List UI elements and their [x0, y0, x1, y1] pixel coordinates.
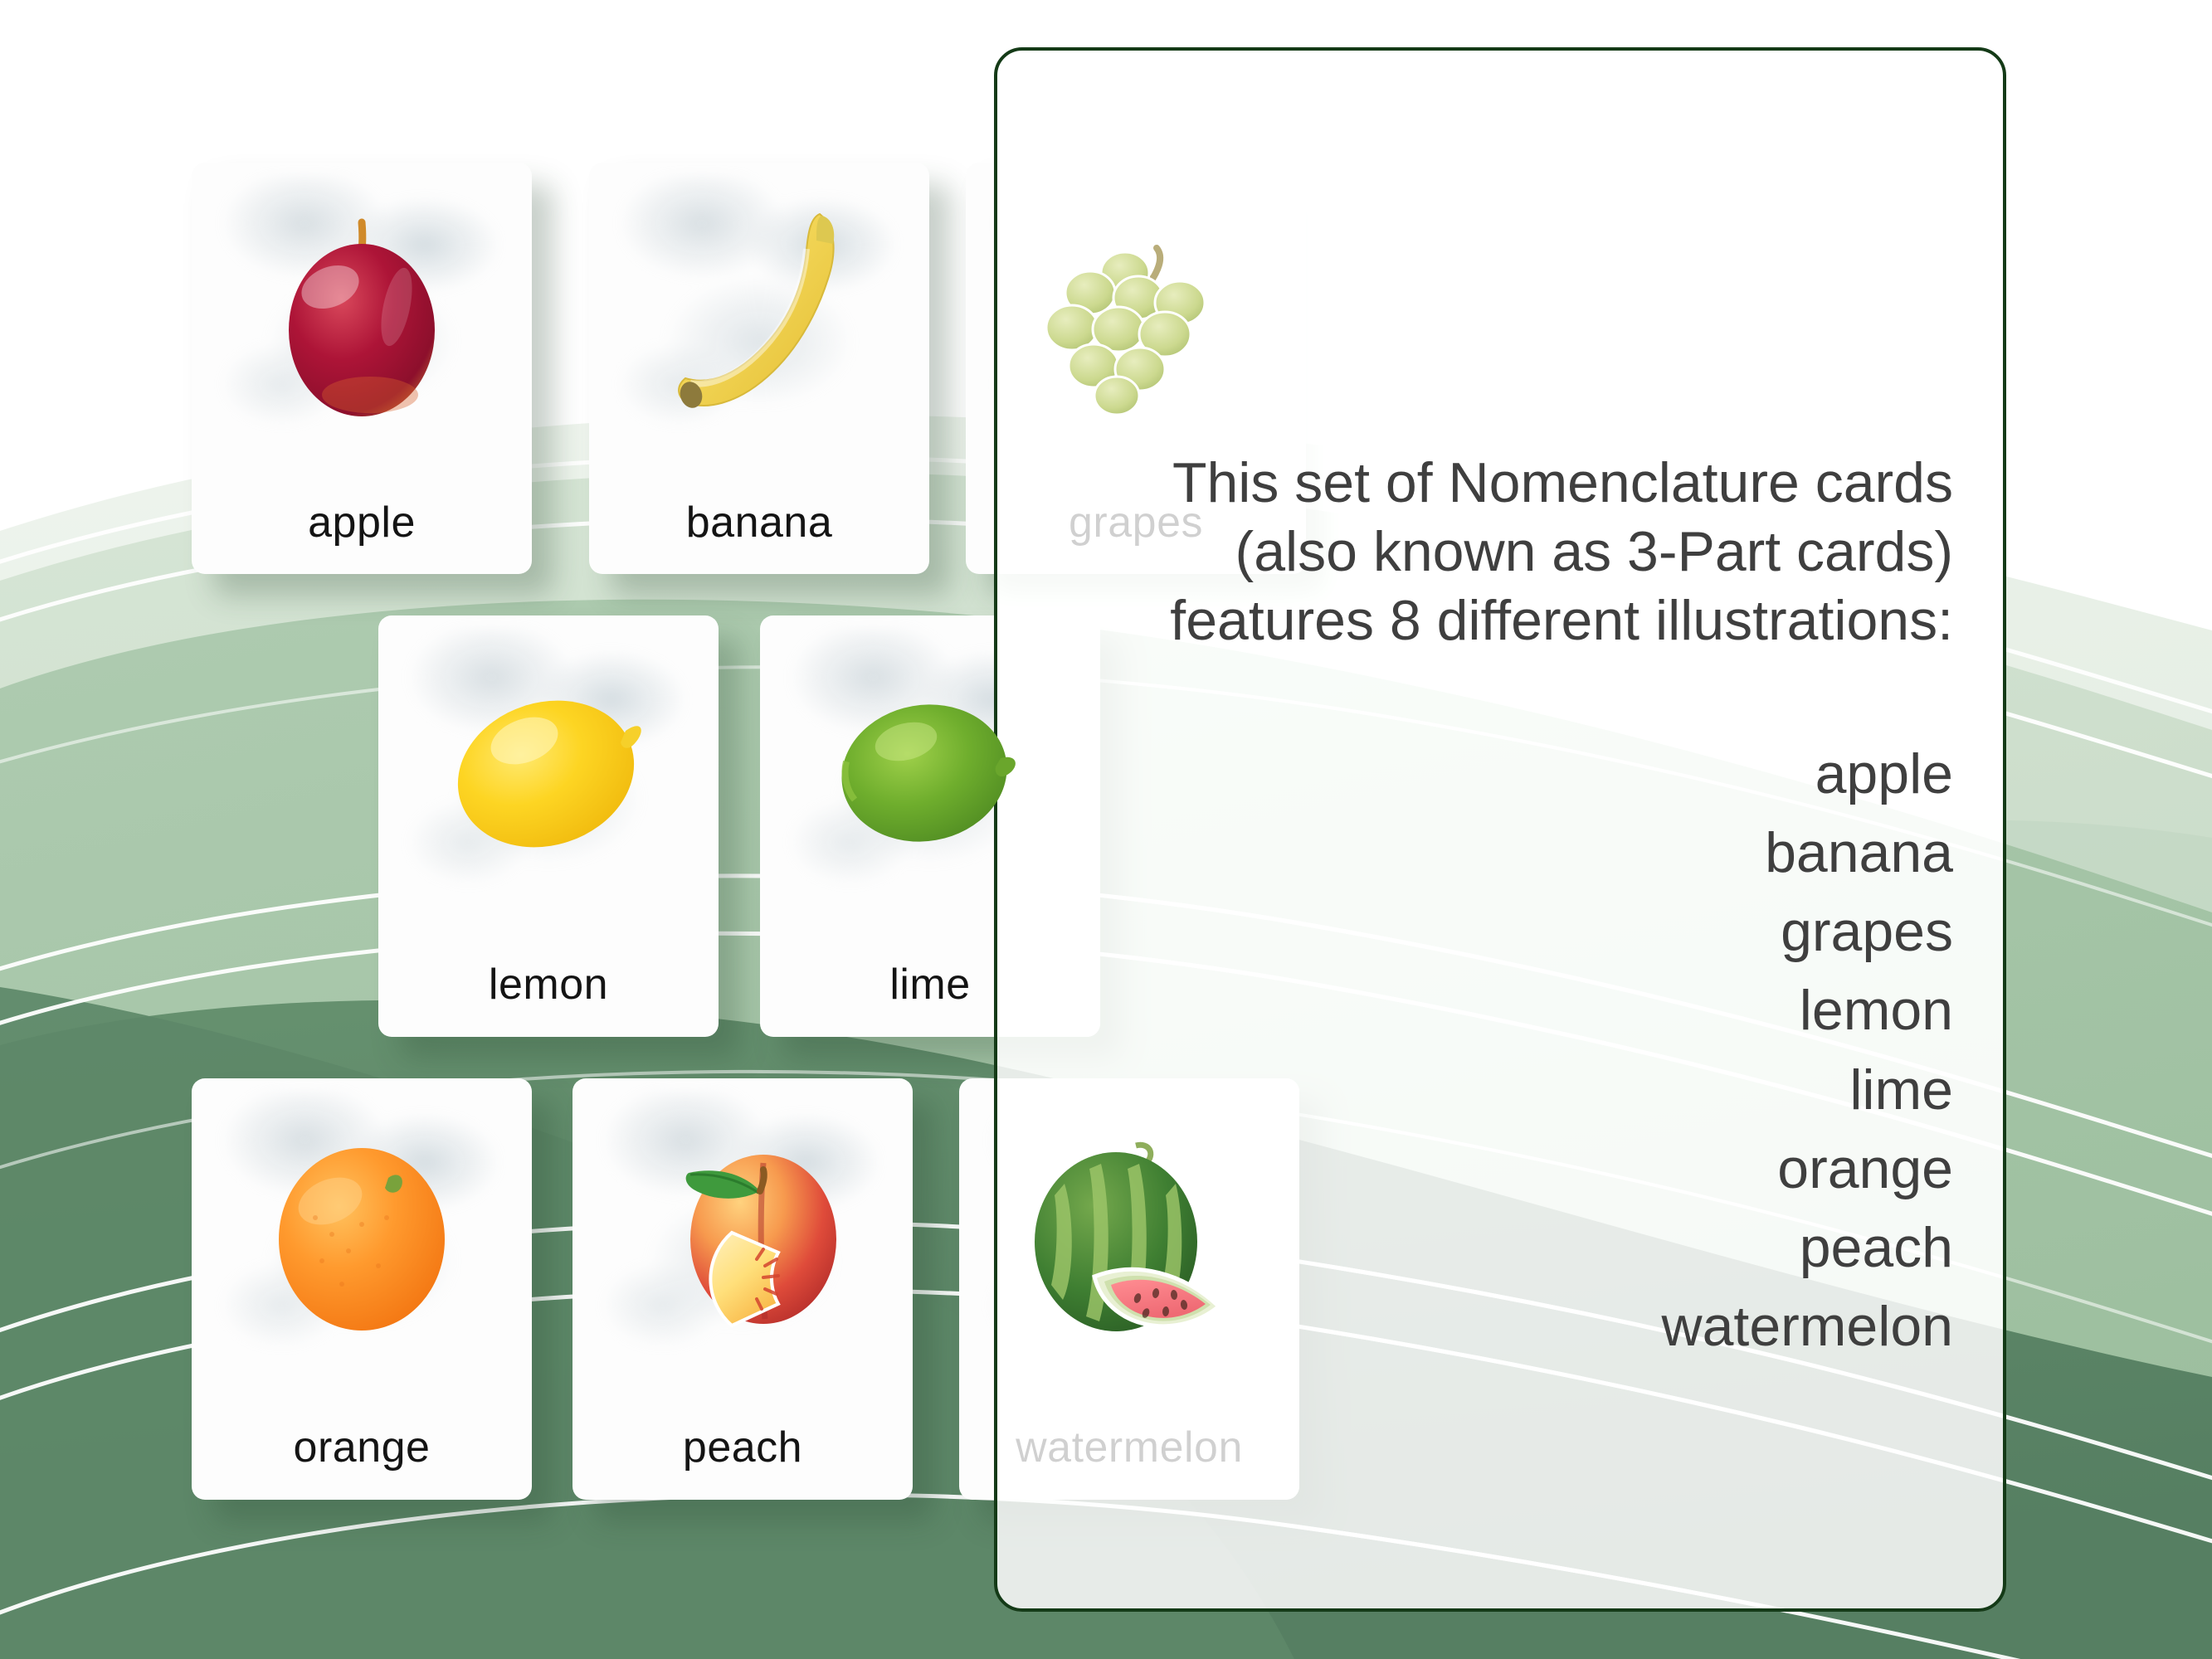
- intro-line-2: (also known as 3-Part cards): [1235, 520, 1953, 583]
- flashcard-lemon[interactable]: lemon: [378, 615, 719, 1037]
- card-art-area: [192, 1078, 532, 1390]
- list-item: banana: [1047, 814, 1953, 893]
- peach-illustration: [639, 1126, 863, 1342]
- intro-line-3: features 8 different illustrations:: [1170, 589, 1953, 652]
- card-label-orange: orange: [192, 1423, 532, 1472]
- card-label-peach: peach: [572, 1423, 913, 1472]
- banana-illustration: [665, 199, 881, 431]
- watermelon-illustration: [1013, 1122, 1245, 1346]
- card-art-area: [378, 615, 719, 927]
- list-item: grapes: [1047, 893, 1953, 971]
- orange-illustration: [262, 1126, 461, 1342]
- overlay-intro-text: This set of Nomenclature cards (also kno…: [1047, 449, 1953, 655]
- card-art-area: [192, 163, 532, 467]
- list-item: lemon: [1047, 971, 1953, 1050]
- flashcard-apple[interactable]: apple: [192, 163, 532, 574]
- lemon-illustration: [436, 676, 660, 867]
- card-art-area: [589, 163, 929, 467]
- intro-line-1: This set of Nomenclature cards: [1172, 451, 1953, 514]
- flashcard-peach[interactable]: peach: [572, 1078, 913, 1500]
- card-label-apple: apple: [192, 498, 532, 547]
- flashcard-orange[interactable]: orange: [192, 1078, 532, 1500]
- flashcard-banana[interactable]: banana: [589, 163, 929, 574]
- slide-canvas: apple banana: [0, 0, 2212, 1659]
- apple-illustration: [270, 207, 453, 423]
- list-item: lime: [1047, 1051, 1953, 1130]
- list-item: apple: [1047, 735, 1953, 814]
- card-label-banana: banana: [589, 498, 929, 547]
- card-label-lemon: lemon: [378, 960, 719, 1010]
- grapes-illustration: [1032, 212, 1240, 419]
- card-art-area: [572, 1078, 913, 1390]
- lime-illustration: [826, 682, 1034, 860]
